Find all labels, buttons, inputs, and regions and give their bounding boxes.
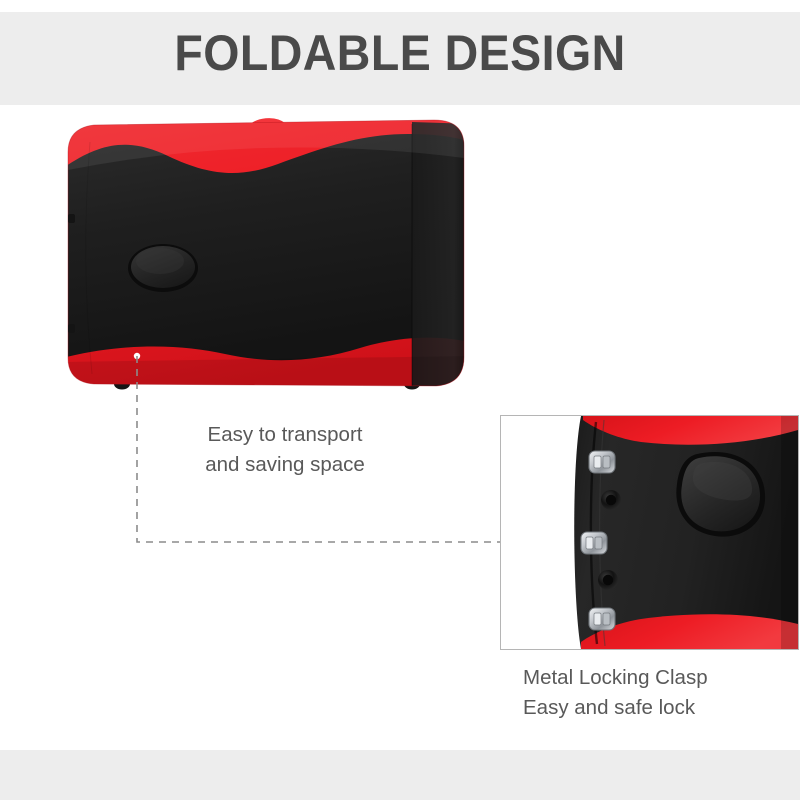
- caption-line-2: and saving space: [160, 450, 410, 480]
- callout-caption-clasp: Metal Locking Clasp Easy and safe lock: [523, 663, 800, 723]
- callout-caption-transport: Easy to transport and saving space: [160, 420, 410, 480]
- metal-clasp-middle: [581, 532, 607, 554]
- side-handle-recess: [128, 244, 198, 292]
- caption-line-2: Easy and safe lock: [523, 693, 800, 723]
- footer-band: [0, 750, 800, 800]
- metal-clasp-top: [589, 451, 615, 473]
- metal-clasp-bottom: [589, 608, 615, 630]
- latch-tab-top: [68, 214, 75, 223]
- inset-closeup-panel: [500, 415, 799, 650]
- latch-tab-bottom: [68, 324, 75, 333]
- product-image-folded-case: [60, 112, 472, 397]
- grommet-upper: [601, 490, 621, 510]
- callout-anchor-dot: [134, 353, 140, 359]
- caption-line-1: Easy to transport: [160, 420, 410, 450]
- caption-line-1: Metal Locking Clasp: [523, 663, 800, 693]
- page-title: FOLDABLE DESIGN: [28, 24, 772, 82]
- product-feature-image: FOLDABLE DESIGN: [0, 0, 800, 800]
- grommet-lower: [598, 570, 618, 590]
